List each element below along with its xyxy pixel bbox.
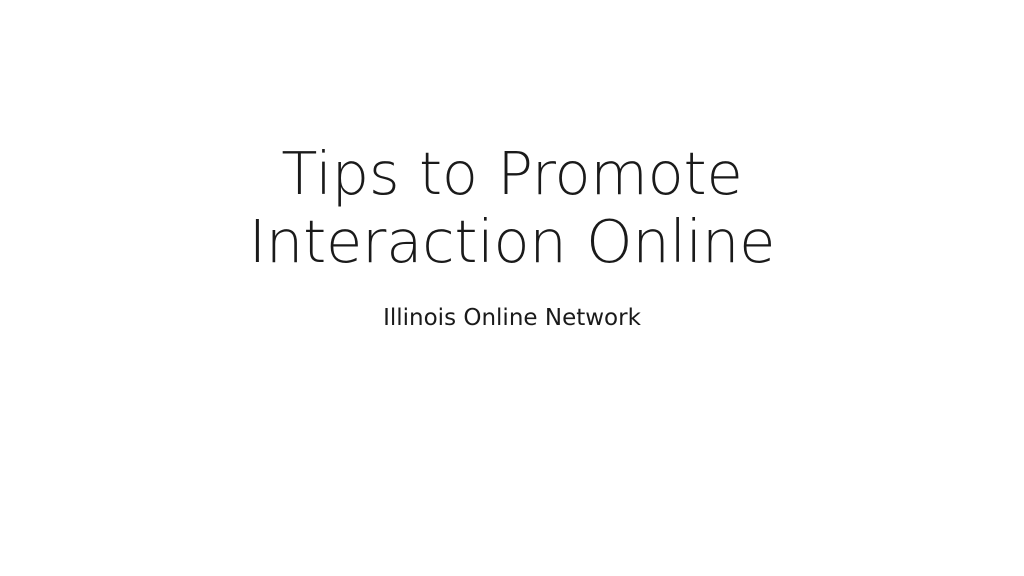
title-placeholder[interactable]: Tips to Promote Interaction Online <box>128 140 896 276</box>
slide-body-empty-area <box>0 350 1024 576</box>
subtitle-placeholder[interactable]: Illinois Online Network <box>128 303 896 333</box>
page-title: Tips to Promote Interaction Online <box>128 140 896 276</box>
slide-subtitle: Illinois Online Network <box>128 303 896 333</box>
title-slide: Tips to Promote Interaction Online Illin… <box>0 0 1024 576</box>
